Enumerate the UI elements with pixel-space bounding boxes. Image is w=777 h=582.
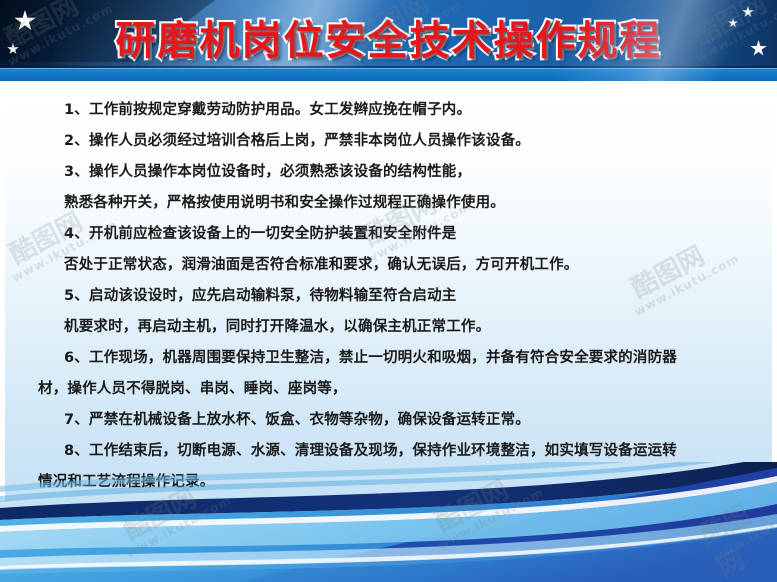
rule-line-11: 7、严禁在机械设备上放水杯、饭盒、衣物等杂物，确保设备运转正常。: [18, 405, 759, 436]
rules-text-block: 1、工作前按规定穿戴劳动防护用品。女工发辫应挽在帽子内。2、操作人员必须经过培训…: [0, 95, 777, 498]
rule-line-9: 6、工作现场，机器周围要保持卫生整洁，禁止一切明火和吸烟，并备有符合安全要求的消…: [18, 343, 759, 374]
safety-regulations-poster: 研磨机岗位安全技术操作规程 1、工作前按规定穿戴劳动防护用品。女工发辫应挽在帽子…: [0, 0, 777, 582]
rule-line-10: 材，操作人员不得脱岗、串岗、睡岗、座岗等，: [18, 374, 759, 405]
bottom-wave-graphic: [0, 462, 777, 582]
star-right-bottom-icon: [747, 72, 758, 81]
star-right-mid-icon: [728, 18, 738, 28]
rule-line-6: 否处于正常状态，润滑油面是否符合标准和要求，确认无误后，方可开机工作。: [18, 250, 759, 281]
rule-line-7: 5、启动该设设时，应先启动输料泵，待物料输至符合启动主: [18, 281, 759, 312]
header-accent-band: [0, 68, 777, 81]
page-title: 研磨机岗位安全技术操作规程: [0, 16, 777, 66]
rule-line-1: 1、工作前按规定穿戴劳动防护用品。女工发辫应挽在帽子内。: [18, 95, 759, 126]
poster-body: 1、工作前按规定穿戴劳动防护用品。女工发辫应挽在帽子内。2、操作人员必须经过培训…: [0, 81, 777, 582]
rule-line-3: 3、操作人员操作本岗位设备时，必须熟悉该设备的结构性能，: [18, 157, 759, 188]
rule-line-5: 4、开机前应检查该设备上的一切安全防护装置和安全附件是: [18, 219, 759, 250]
rule-line-2: 2、操作人员必须经过培训合格后上岗，严禁非本岗位人员操作该设备。: [18, 126, 759, 157]
rule-line-4: 熟悉各种开关，严格按使用说明书和安全操作过规程正确操作使用。: [18, 188, 759, 219]
rule-line-8: 机要求时，再启动主机，同时打开降温水，以确保主机正常工作。: [18, 312, 759, 343]
wave-svg: [0, 462, 777, 582]
star-right-large-icon: [750, 40, 767, 57]
star-right-small-top-icon: [742, 6, 754, 18]
poster-header: 研磨机岗位安全技术操作规程: [0, 0, 777, 81]
